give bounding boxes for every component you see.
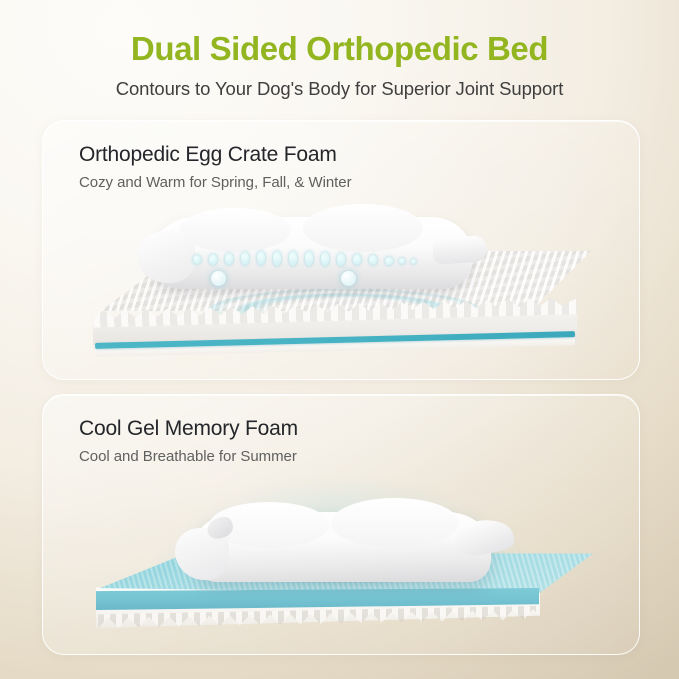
gel-memory-foam-illustration [43,464,639,654]
dog-spine-highlight [193,251,423,269]
dog-hip [331,498,459,548]
header: Dual Sided Orthopedic Bed Contours to Yo… [0,0,679,100]
dog-figure-side-sleeping [151,217,471,289]
page-subtitle: Contours to Your Dog's Body for Superior… [0,78,679,100]
egg-crate-foam-illustration [43,211,639,379]
gel-front-face [96,588,539,610]
page-title: Dual Sided Orthopedic Bed [0,30,679,69]
dog-figure-side-sleeping [191,502,491,582]
card-header: Orthopedic Egg Crate Foam Cozy and Warm … [43,121,639,191]
dog-hip [303,204,423,252]
dog-head [137,231,195,283]
card-title: Orthopedic Egg Crate Foam [79,143,639,167]
dog-shoulder [179,208,291,252]
card-title: Cool Gel Memory Foam [79,417,639,441]
card-header: Cool Gel Memory Foam Cool and Breathable… [43,395,639,465]
dog-joint-front [211,271,226,286]
dog-joint-rear [341,271,356,286]
card-subtitle: Cozy and Warm for Spring, Fall, & Winter [79,174,639,191]
dog-tail [432,235,488,265]
feature-card-cool-gel-memory-foam: Cool Gel Memory Foam Cool and Breathable… [42,394,640,655]
feature-card-orthopedic-egg-crate-foam: Orthopedic Egg Crate Foam Cozy and Warm … [42,120,640,380]
